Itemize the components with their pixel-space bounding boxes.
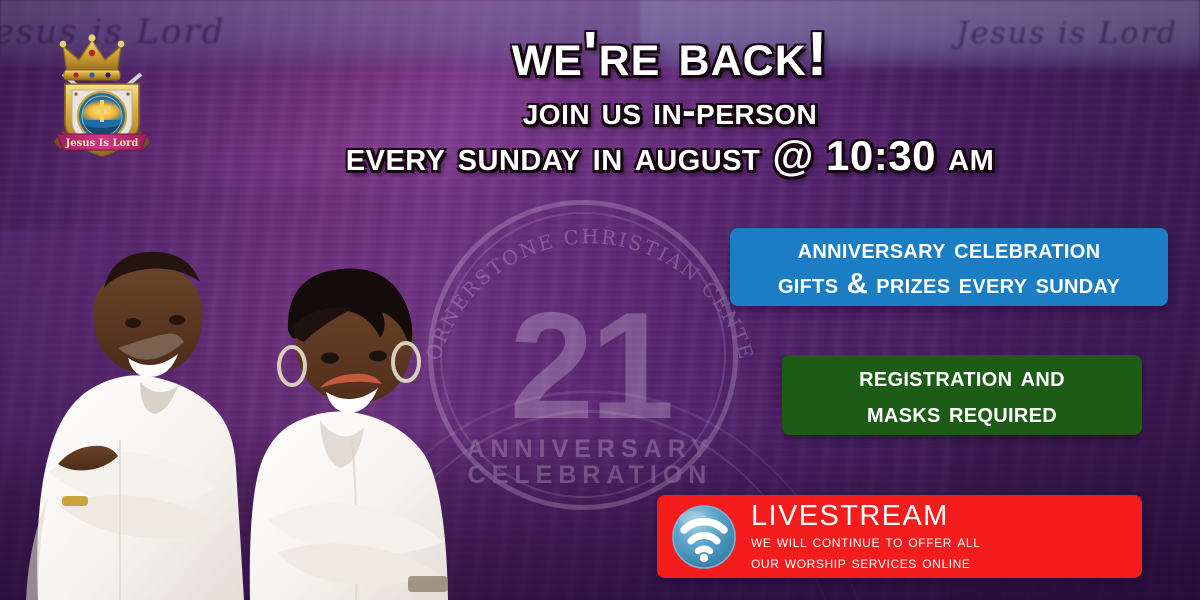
crown-icon	[60, 34, 125, 80]
registration-badge-line-1: Registration and	[859, 359, 1065, 395]
pastors-couple-photo	[0, 180, 470, 600]
church-logo-crest: Jesus Is Lord	[43, 28, 161, 160]
livestream-text-block: LIVESTREAM We will continue to offer all…	[751, 501, 980, 573]
logo-ribbon-text: Jesus Is Lord	[65, 138, 139, 149]
headline-line-3: Every Sunday in August @ 10:30 AM	[250, 132, 1090, 180]
registration-badge-line-2: Masks Required	[867, 395, 1057, 431]
livestream-sub-line-2: our worship services online	[751, 552, 980, 573]
event-banner: Jesus is Lord Jesus is Lord CORNERSTONE …	[0, 0, 1200, 600]
woman-figure	[250, 268, 448, 600]
wifi-icon	[671, 504, 737, 570]
anniversary-badge-line-2: Gifts & Prizes Every Sunday	[778, 267, 1120, 302]
headline-line-1: We're Back!	[250, 22, 1090, 88]
man-figure	[26, 252, 244, 600]
registration-masks-badge[interactable]: Registration and Masks Required	[782, 355, 1142, 435]
anniversary-celebration-badge[interactable]: Anniversary Celebration Gifts & Prizes E…	[730, 228, 1168, 306]
headline-block: We're Back! Join Us In-Person Every Sund…	[250, 22, 1090, 180]
livestream-badge[interactable]: LIVESTREAM We will continue to offer all…	[657, 495, 1142, 578]
logo-ribbon: Jesus Is Lord	[57, 134, 147, 150]
livestream-title: LIVESTREAM	[751, 501, 980, 531]
headline-line-2: Join Us In-Person	[250, 88, 1090, 134]
livestream-sub-line-1: We will continue to offer all	[751, 531, 980, 552]
anniversary-badge-line-1: Anniversary Celebration	[798, 232, 1101, 267]
